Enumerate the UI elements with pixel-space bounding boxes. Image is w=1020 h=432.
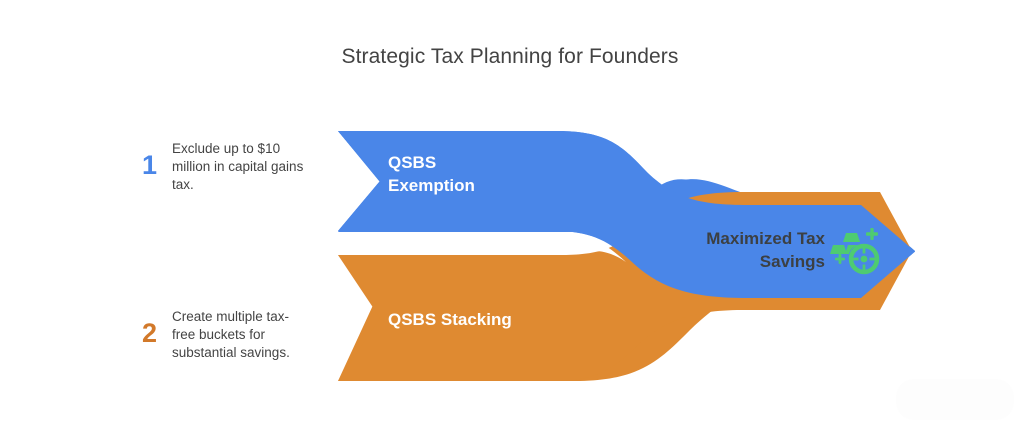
flow-diagram <box>0 0 1020 432</box>
infographic-canvas: Strategic Tax Planning for Founders QSBS… <box>0 0 1020 432</box>
gold-bars-coin-sparkle-icon <box>829 224 881 276</box>
step-1-description: Exclude up to $10 million in capital gai… <box>172 140 304 195</box>
step-2-number: 2 <box>142 320 172 347</box>
step-2: 2 Create multiple tax-free buckets for s… <box>142 308 304 363</box>
outcome-label: Maximized Tax Savings <box>640 228 825 274</box>
band-label-qsbs-exemption: QSBS Exemption <box>388 152 475 198</box>
step-1: 1 Exclude up to $10 million in capital g… <box>142 140 304 195</box>
step-1-number: 1 <box>142 152 172 179</box>
step-2-description: Create multiple tax-free buckets for sub… <box>172 308 304 363</box>
band-label-qsbs-stacking: QSBS Stacking <box>388 309 512 332</box>
